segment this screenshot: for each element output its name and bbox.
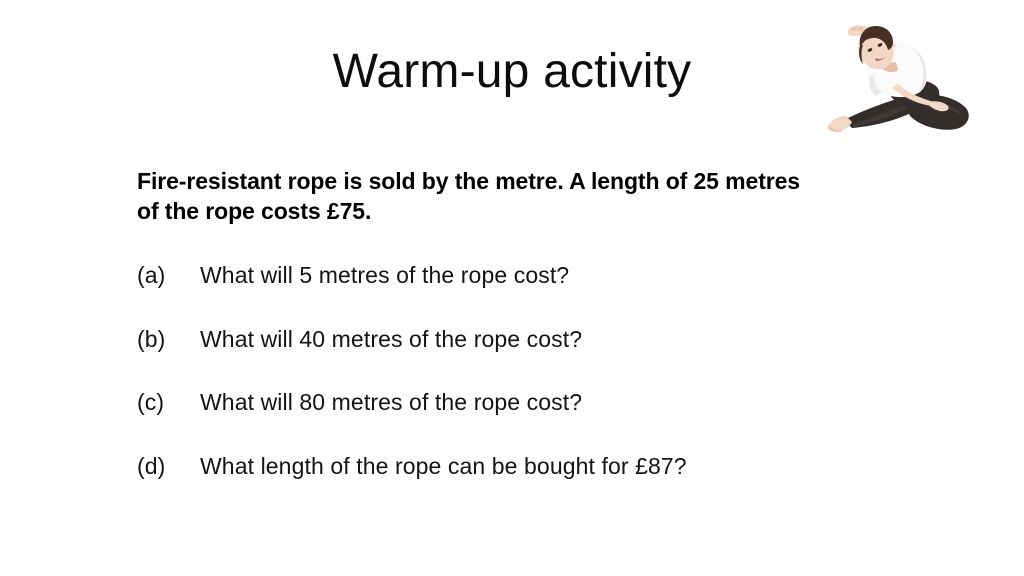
- question-text-a: What will 5 metres of the rope cost?: [200, 262, 569, 289]
- question-label-c: (c): [137, 389, 200, 416]
- question-label-d: (d): [137, 453, 200, 480]
- question-text-b: What will 40 metres of the rope cost?: [200, 326, 582, 353]
- woman-stretching-photo: [808, 12, 988, 138]
- question-item-d: (d) What length of the rope can be bough…: [137, 453, 897, 517]
- question-item-b: (b) What will 40 metres of the rope cost…: [137, 326, 897, 390]
- woman-stretching-illustration: [808, 12, 988, 138]
- question-text-c: What will 80 metres of the rope cost?: [200, 389, 582, 416]
- question-list: (a) What will 5 metres of the rope cost?…: [137, 262, 897, 516]
- question-item-a: (a) What will 5 metres of the rope cost?: [137, 262, 897, 326]
- question-label-a: (a): [137, 262, 200, 289]
- slide-canvas: Warm-up activity Fire-resistant rope is …: [0, 0, 1024, 576]
- lead-paragraph: Fire-resistant rope is sold by the metre…: [137, 166, 827, 226]
- question-label-b: (b): [137, 326, 200, 353]
- question-text-d: What length of the rope can be bought fo…: [200, 453, 687, 480]
- lead-paragraph-block: Fire-resistant rope is sold by the metre…: [137, 166, 837, 226]
- question-item-c: (c) What will 80 metres of the rope cost…: [137, 389, 897, 453]
